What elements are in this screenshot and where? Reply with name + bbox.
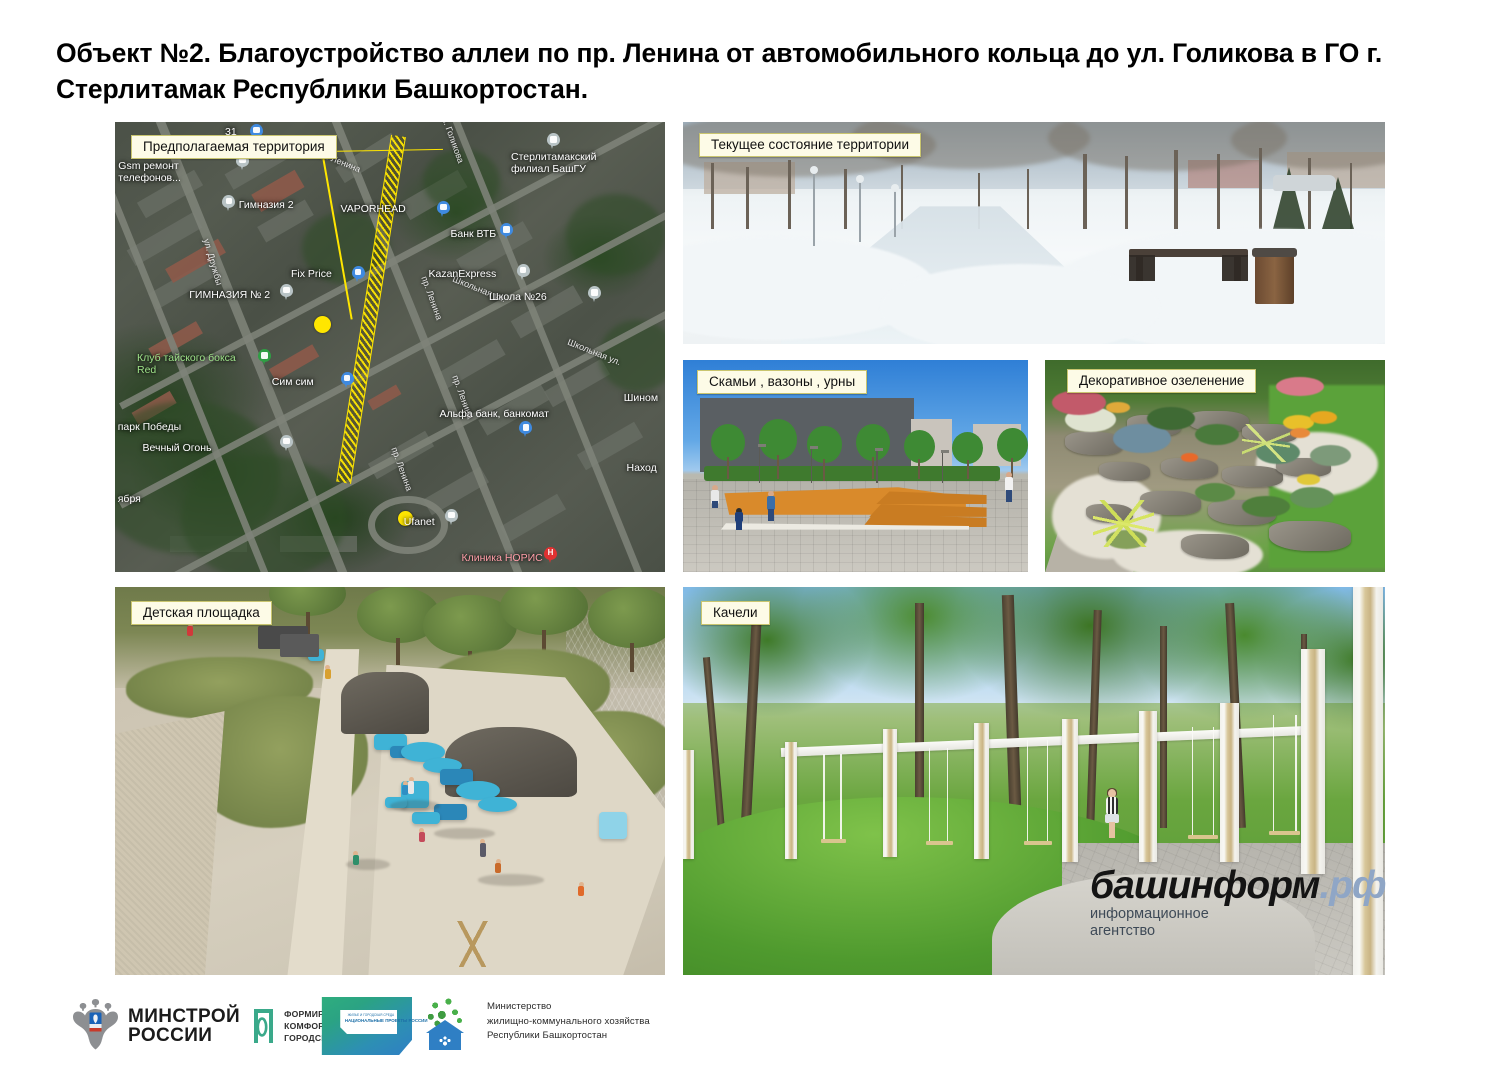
caption-greenery: Декоративное озеленение <box>1067 369 1256 393</box>
litter-bin <box>1255 255 1294 304</box>
map-pin-bashgu[interactable] <box>547 133 560 150</box>
national-projects-big-text: НАЦИОНАЛЬНЫЕ ПРОЕКТЫ РОССИИ <box>345 1018 428 1023</box>
playground-render-image <box>115 587 665 975</box>
swing-post <box>1139 711 1157 862</box>
satellite-map-image: пр. Ленина ул. Голикова Школьная ул. Шко… <box>115 122 665 572</box>
playground-adult <box>407 777 416 797</box>
map-pin-sim-sim[interactable] <box>341 372 354 389</box>
panel-playground[interactable]: Детская площадка <box>115 587 665 975</box>
map-pin-alfa-bank[interactable] <box>519 421 532 438</box>
map-label-yabrya: ября <box>118 493 141 505</box>
caption-proposed-territory: Предполагаемая территория <box>131 135 337 159</box>
caption-current-state: Текущее состояние территории <box>699 133 921 157</box>
minjkh-line-1: Министерство <box>487 1000 650 1015</box>
swing-post <box>683 750 694 859</box>
playground-child <box>324 665 331 678</box>
footer-logos: МИНСТРОЙ РОССИИ ФОРМИРОВАНИЕ КОМФОРТНОЙ … <box>0 984 1500 1071</box>
map-pin-gymnasium-no2[interactable] <box>280 284 293 301</box>
map-pin-vaporhead[interactable] <box>437 201 450 218</box>
panel-current-state-photo[interactable]: Текущее состояние территории <box>683 122 1385 344</box>
russia-coat-of-arms-icon <box>72 996 119 1056</box>
playground-child-cyclist <box>577 882 585 897</box>
map-label-kazanexpress: KazanExpress <box>429 268 497 280</box>
minstroy-text: МИНСТРОЙ РОССИИ <box>128 1007 240 1046</box>
watermark-brand: башинформ <box>1090 864 1319 907</box>
park-bench <box>1129 249 1248 280</box>
slide-root: Объект №2. Благоустройство аллеи по пр. … <box>0 0 1500 1071</box>
bashkortostan-house-icon <box>420 994 478 1050</box>
playground-adult <box>478 839 487 861</box>
minjkh-line-3: Республики Башкортостан <box>487 1029 650 1044</box>
map-pin-eternal-flame[interactable] <box>280 435 293 452</box>
visitor-child <box>735 508 744 532</box>
doorway-icon <box>250 1007 277 1045</box>
map-label-school-26: Школа №26 <box>489 291 547 303</box>
visitor-walking <box>1004 472 1014 502</box>
map-label-vtb: Банк ВТБ <box>451 228 497 240</box>
parked-car <box>1273 175 1336 191</box>
map-label-thai-box-club: Клуб тайского бокса Red <box>137 352 242 376</box>
map-label-shinom: Шином <box>624 392 658 404</box>
map-pin-ufanet[interactable] <box>445 509 458 526</box>
map-pin-gymnasium-2[interactable] <box>222 195 235 212</box>
logo-national-projects: ЖИЛЬЕ И ГОРОДСКАЯ СРЕДА НАЦИОНАЛЬНЫЕ ПРО… <box>320 997 412 1055</box>
playground-child <box>495 859 502 872</box>
map-label-eternal-flame: Вечный Огонь <box>143 442 212 454</box>
map-pin-noris-clinic[interactable]: H <box>544 547 557 564</box>
minstroy-line-2: РОССИИ <box>128 1026 240 1045</box>
caption-playground: Детская площадка <box>131 601 272 625</box>
swing-post <box>1062 719 1078 863</box>
house-icon <box>426 1020 464 1050</box>
watermark-subtitle-1: информационное <box>1090 906 1386 922</box>
watermark-subtitle-2: агентство <box>1090 923 1386 939</box>
watermark: башинформ.рф информационное агентство <box>1090 866 1386 939</box>
minjkh-text: Министерство жилищно-коммунального хозяй… <box>487 1000 650 1044</box>
climbing-structure <box>341 672 429 734</box>
map-label-noris-clinic: Клиника НОРИС <box>462 552 543 564</box>
map-pin-kazanexpress[interactable] <box>517 264 530 281</box>
map-pin-school-26[interactable] <box>588 286 601 303</box>
page-title: Объект №2. Благоустройство аллеи по пр. … <box>56 36 1446 107</box>
playground-child <box>352 851 360 865</box>
minjkh-line-2: жилищно-коммунального хозяйства <box>487 1015 650 1030</box>
national-projects-small-text: ЖИЛЬЕ И ГОРОДСКАЯ СРЕДА <box>348 1013 395 1017</box>
panel-proposed-territory-map[interactable]: пр. Ленина ул. Голикова Школьная ул. Шко… <box>115 122 665 572</box>
map-label-gymnasium-no2: ГИМНАЗИЯ № 2 <box>189 289 270 301</box>
swing-post <box>785 742 797 858</box>
map-label-nahod: Наход <box>627 462 657 474</box>
map-pin-fix-price[interactable] <box>352 266 365 283</box>
map-label-vaporhead: VAPORHEAD <box>341 203 406 215</box>
panel-decorative-greenery[interactable]: Декоративное озеленение <box>1045 360 1385 572</box>
map-label-alfa-bank: Альфа банк, банкомат <box>440 408 549 420</box>
map-label-gsm: Gsm ремонт телефонов... <box>118 160 210 184</box>
map-pin-thai-box-club[interactable] <box>258 349 271 366</box>
logo-minjkh-bashkortostan: Министерство жилищно-коммунального хозяй… <box>420 994 650 1050</box>
watermark-domain: .рф <box>1319 864 1385 907</box>
playground-child <box>418 828 426 844</box>
map-label-gymnasium-2: Гимназия 2 <box>239 199 294 211</box>
map-label-fix-price: Fix Price <box>291 268 332 280</box>
person-on-swing <box>1104 789 1120 841</box>
swing-post <box>1220 703 1239 862</box>
map-label-park-pobedy: парк Победы <box>118 421 181 433</box>
map-label-ufanet: Ufanet <box>404 516 435 528</box>
caption-swings: Качели <box>701 601 770 625</box>
street-label-lenina-mid: пр. Ленина <box>420 275 445 321</box>
map-label-sim-sim: Сим сим <box>272 376 314 388</box>
swing-post <box>974 723 989 859</box>
minstroy-line-1: МИНСТРОЙ <box>128 1007 240 1026</box>
map-label-bashgu: Стерлитамакский филиал БашГУ <box>511 151 631 175</box>
visitor-seated <box>711 485 720 505</box>
caption-benches: Скамьи , вазоны , урны <box>697 370 867 394</box>
territory-center-marker <box>314 316 331 333</box>
visitor-adult <box>766 491 776 523</box>
swing-post <box>883 729 897 857</box>
panel-benches-planters-bins[interactable]: Скамьи , вазоны , урны <box>683 360 1028 572</box>
swing-post <box>1301 649 1325 874</box>
map-pin-vtb[interactable] <box>500 223 513 240</box>
project-corridor-highlight <box>336 134 406 483</box>
